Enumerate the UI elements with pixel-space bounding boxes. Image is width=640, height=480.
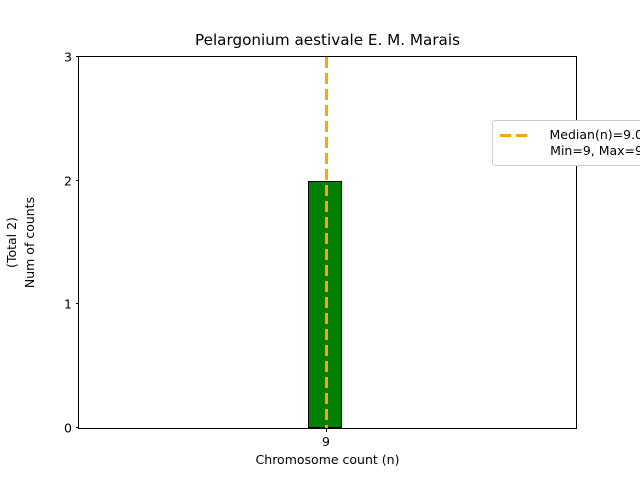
chart-legend: Median(n)=9.0 Min=9, Max=9 — [492, 120, 640, 166]
y-axis-label-line2: (Total 2) — [4, 56, 20, 429]
figure-canvas: Pelargonium aestivale E. M. Marais 0 1 2… — [0, 0, 640, 480]
ytick-label-2: 2 — [64, 174, 72, 187]
ytick-mark-2 — [76, 180, 80, 181]
y-axis-label-line1: Num of counts — [22, 56, 38, 429]
ytick-mark-1 — [76, 303, 80, 304]
xtick-label-9: 9 — [322, 435, 330, 449]
y-axis-label: Num of counts (Total 2) — [0, 56, 40, 429]
ytick-label-1: 1 — [64, 298, 72, 311]
x-axis-label: Chromosome count (n) — [78, 452, 577, 467]
ytick-mark-3 — [76, 56, 80, 57]
legend-label-minmax: Min=9, Max=9 — [540, 143, 640, 159]
chart-title: Pelargonium aestivale E. M. Marais — [78, 31, 577, 49]
legend-label-median: Median(n)=9.0 — [540, 127, 640, 143]
legend-dashed-line-icon — [500, 129, 532, 143]
plot-axes: 0 1 2 3 9 Median(n)=9.0 Min=9, Max=9 — [78, 56, 577, 429]
ytick-label-0: 0 — [64, 422, 72, 435]
plot-area — [79, 57, 576, 428]
ytick-mark-0 — [76, 427, 80, 428]
xtick-mark-9 — [326, 428, 327, 432]
median-line — [325, 57, 328, 428]
ytick-label-3: 3 — [64, 51, 72, 64]
legend-text: Median(n)=9.0 Min=9, Max=9 — [540, 127, 640, 159]
